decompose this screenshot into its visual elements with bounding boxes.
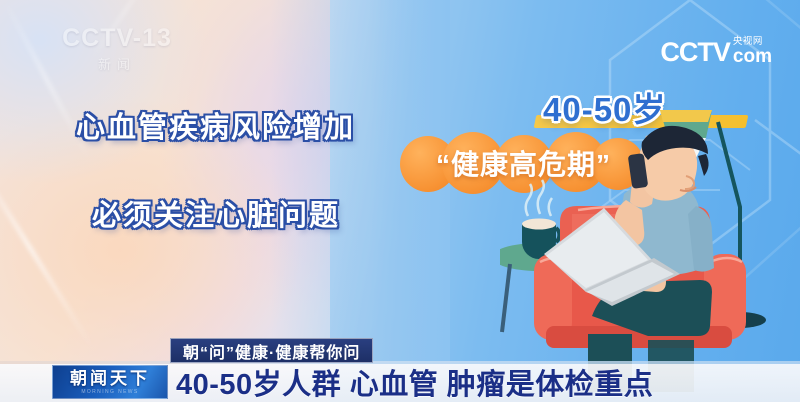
cctv-wordmark: CCTV: [660, 39, 730, 66]
program-logo-en: MORNING NEWS: [81, 389, 138, 395]
yangshiwang-label: 央视网: [733, 37, 772, 47]
program-logo-cn: 朝闻天下: [70, 370, 150, 387]
program-banner: 朝“问”健康·健康帮你问: [170, 338, 373, 363]
program-banner-label: 朝“问”健康·健康帮你问: [183, 339, 360, 363]
broadcast-screenshot: CCTV-13 新闻 CCTV 央视网 com 心血管疾病风险增加 必须关注心脏…: [0, 0, 800, 402]
program-logo-block: 朝闻天下 MORNING NEWS: [52, 365, 168, 399]
cctv-com-logo: CCTV 央视网 com: [660, 32, 772, 66]
overlay-lead-line-1: 心血管疾病风险增加: [76, 104, 355, 146]
news-headline-label: 40-50岁人群 心血管 肿瘤是体检重点: [176, 361, 653, 402]
com-label: com: [733, 47, 772, 66]
lower-third: 朝“问”健康·健康帮你问 朝闻天下 MORNING NEWS 40-50岁人群 …: [0, 330, 800, 402]
overlay-lead-line-2: 必须关注心脏问题: [92, 192, 340, 234]
news-headline: 40-50岁人群 心血管 肿瘤是体检重点: [176, 365, 653, 399]
steam-icon: [526, 180, 552, 216]
